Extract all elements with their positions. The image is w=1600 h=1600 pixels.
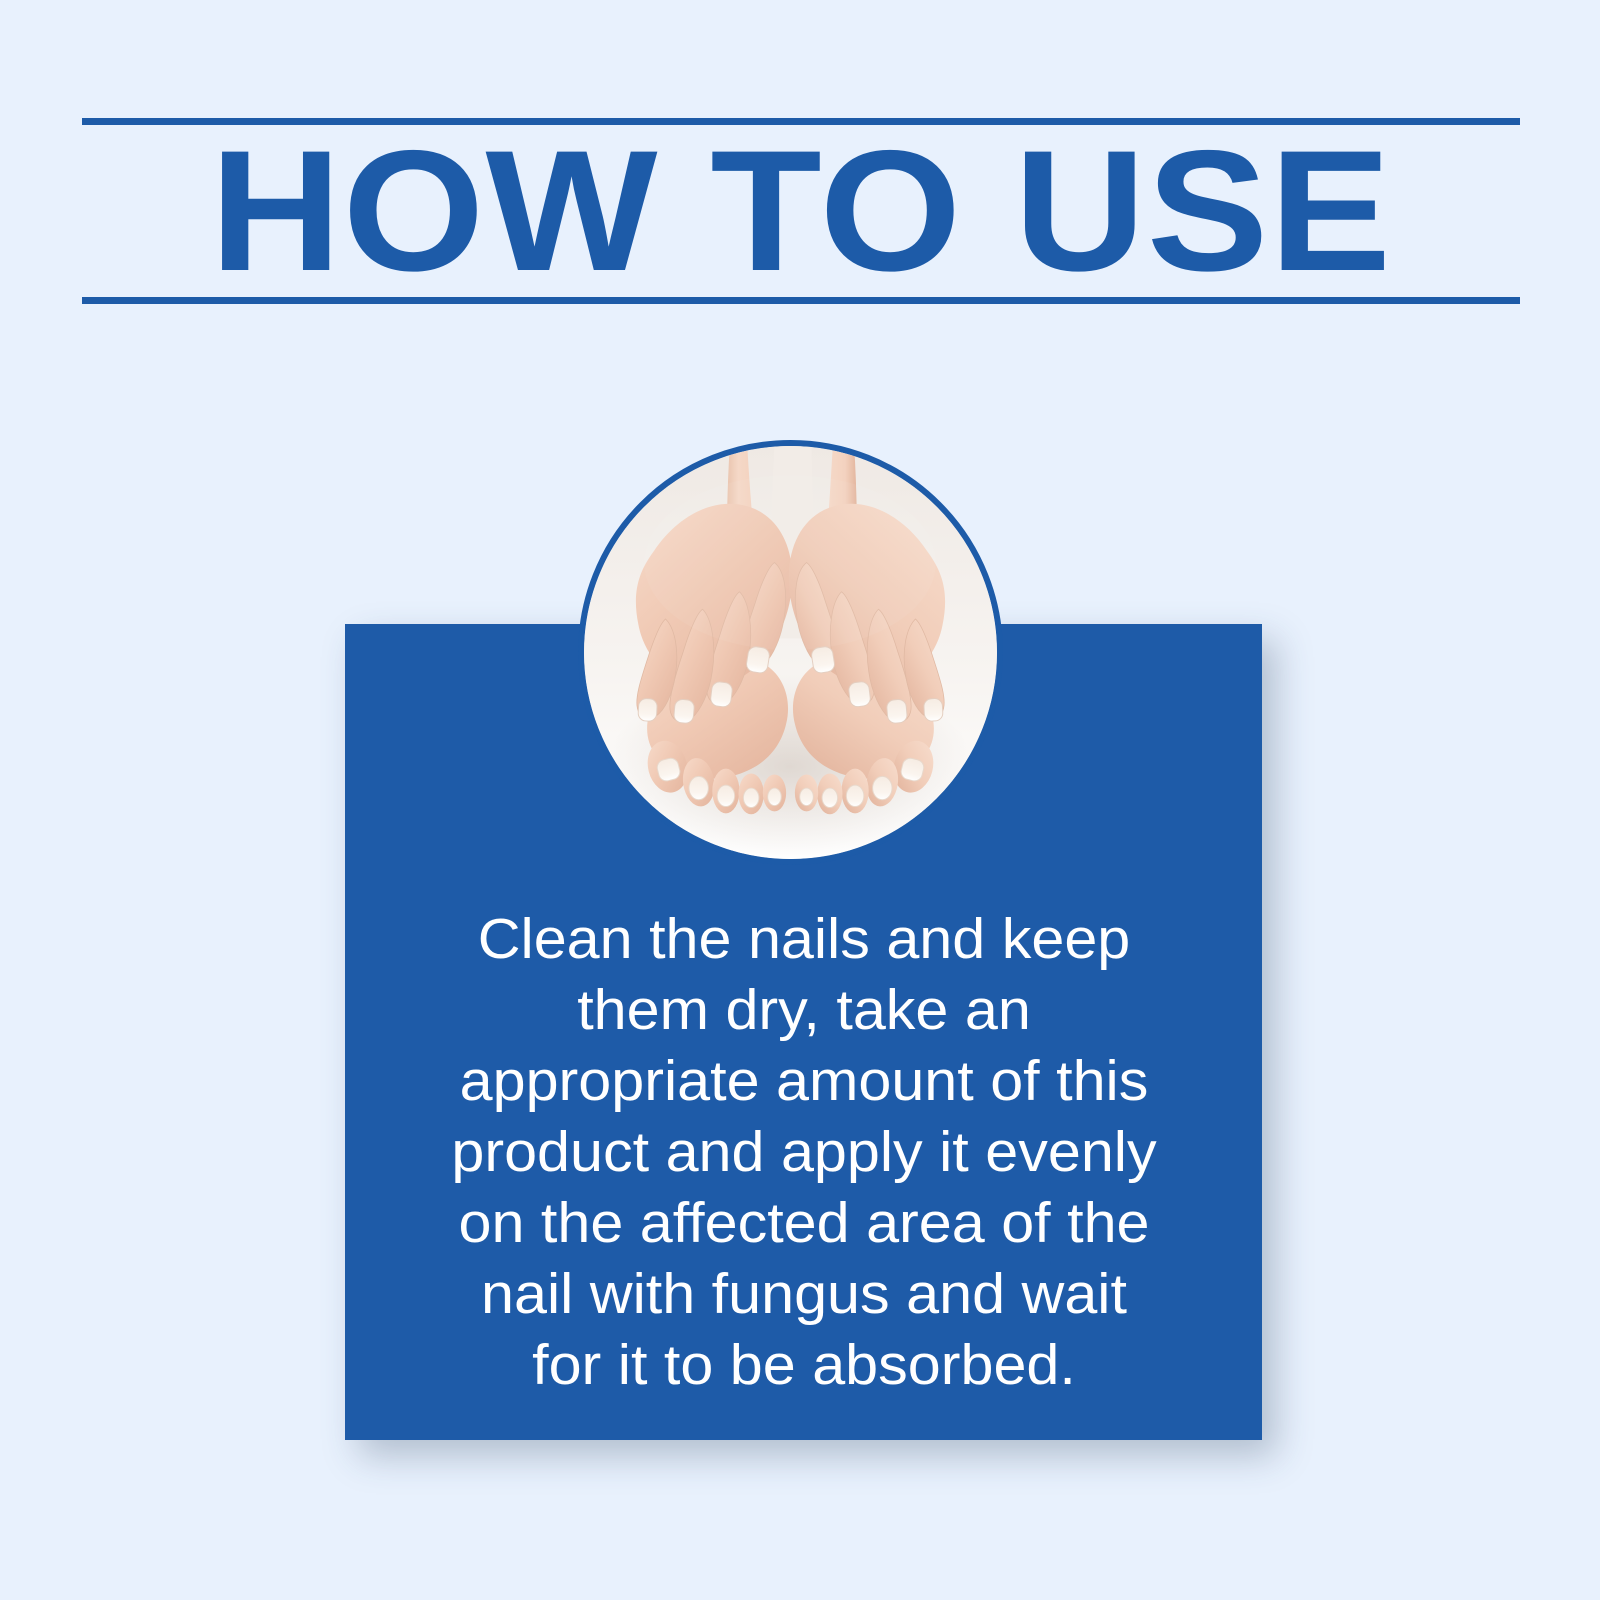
hands-and-feet-illustration (584, 446, 997, 859)
page-title: HOW TO USE (39, 125, 1563, 297)
hands-and-feet-photo-clip (584, 446, 997, 859)
instruction-text: Clean the nails and keep them dry, take … (440, 904, 1168, 1401)
how-to-use-poster: HOW TO USE Clean the nails and keep them… (0, 0, 1600, 1600)
header-rule-bottom-divider (82, 297, 1520, 304)
hands-and-feet-photo (578, 440, 1003, 865)
header-block: HOW TO USE (82, 118, 1520, 304)
